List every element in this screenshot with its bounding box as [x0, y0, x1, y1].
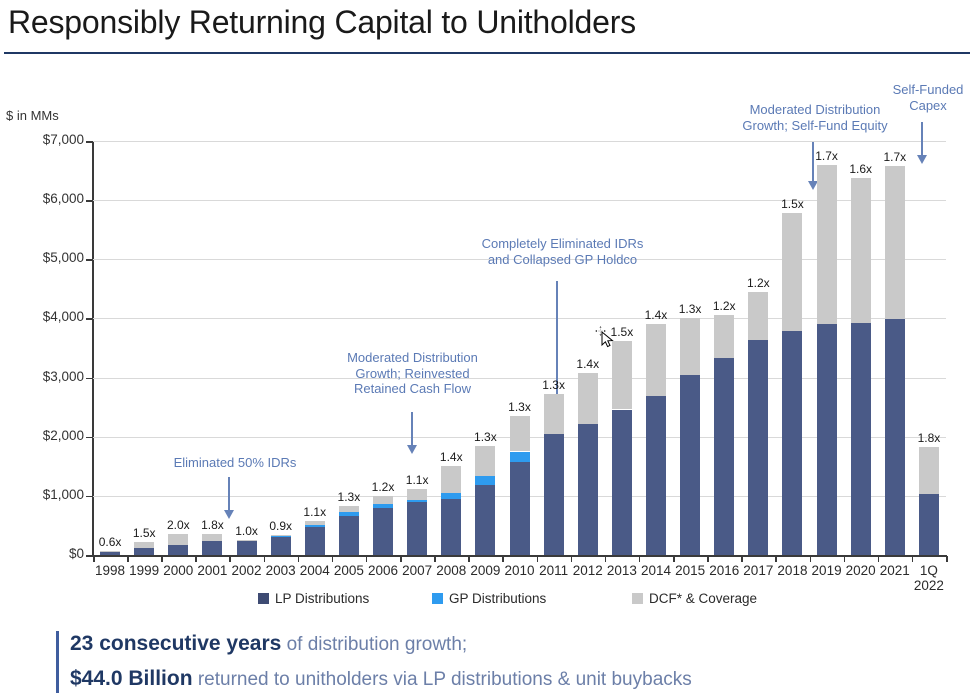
y-axis-tick-label: $4,000: [12, 309, 84, 324]
bar-segment-lp[interactable]: [305, 527, 325, 555]
x-axis-tick: [161, 556, 163, 562]
legend-item[interactable]: LP Distributions: [258, 591, 369, 606]
y-axis-tick: [86, 259, 93, 261]
bar-segment-dcf[interactable]: [885, 166, 905, 319]
bar-segment-lp[interactable]: [202, 541, 222, 555]
y-axis-tick-label: $3,000: [12, 369, 84, 384]
x-axis-tick: [878, 556, 880, 562]
footer-line-2: $44.0 Billion returned to unitholders vi…: [70, 662, 956, 697]
bar-segment-lp[interactable]: [441, 499, 461, 555]
slide-root: Responsibly Returning Capital to Unithol…: [0, 0, 979, 698]
bar-segment-lp[interactable]: [748, 340, 768, 555]
y-axis-tick-label: $7,000: [12, 132, 84, 147]
footer-strong-1: 23 consecutive years: [70, 632, 281, 655]
x-axis-tick: [366, 556, 368, 562]
annotation-arrow-icon: [916, 122, 928, 164]
bar-coverage-label: 1.1x: [293, 505, 337, 519]
bar-coverage-label: 1.3x: [498, 400, 542, 414]
bar-segment-dcf[interactable]: [339, 506, 359, 513]
bar-segment-dcf[interactable]: [612, 341, 632, 410]
bar-segment-gp[interactable]: [305, 525, 325, 527]
bar-coverage-label: 1.5x: [600, 325, 644, 339]
legend-swatch: [258, 593, 269, 604]
footer-rest-2: returned to unitholders via LP distribut…: [193, 669, 692, 690]
annotation-arrow-icon: [223, 477, 235, 519]
y-axis-tick-label: $2,000: [12, 428, 84, 443]
y-axis-tick: [86, 496, 93, 498]
x-axis-tick-label: 1Q2022: [907, 563, 951, 593]
x-axis-tick: [400, 556, 402, 562]
bar-segment-dcf[interactable]: [168, 534, 188, 544]
bar-segment-lp[interactable]: [168, 545, 188, 555]
bar-segment-lp[interactable]: [714, 358, 734, 555]
x-axis-tick: [605, 556, 607, 562]
bar-segment-lp[interactable]: [578, 424, 598, 555]
bar-segment-lp[interactable]: [851, 323, 871, 555]
bar-segment-lp[interactable]: [339, 516, 359, 555]
y-axis-tick: [86, 378, 93, 380]
bar-segment-lp[interactable]: [885, 319, 905, 555]
footer-line-1: 23 consecutive years of distribution gro…: [70, 627, 956, 662]
x-axis-tick: [946, 556, 948, 562]
footer-callout: 23 consecutive years of distribution gro…: [56, 627, 956, 697]
bar-coverage-label: 1.7x: [805, 149, 849, 163]
y-axis-tick-label: $6,000: [12, 191, 84, 206]
x-axis-tick: [332, 556, 334, 562]
x-axis-tick: [298, 556, 300, 562]
bar-coverage-label: 0.9x: [259, 519, 303, 533]
y-axis-tick: [86, 141, 93, 143]
bar-segment-gp[interactable]: [510, 452, 530, 463]
x-axis-line: [92, 555, 947, 557]
legend-item[interactable]: GP Distributions: [432, 591, 546, 606]
bar-segment-dcf[interactable]: [544, 394, 564, 434]
annotation-text: Self-Funded Capex: [878, 82, 978, 113]
legend-swatch: [632, 593, 643, 604]
bar-coverage-label: 1.3x: [463, 430, 507, 444]
bar-segment-dcf[interactable]: [134, 542, 154, 548]
x-axis-tick: [912, 556, 914, 562]
bar-segment-gp[interactable]: [407, 500, 427, 502]
bar-coverage-label: 1.3x: [532, 378, 576, 392]
bar-segment-dcf[interactable]: [305, 521, 325, 525]
y-axis-tick: [86, 437, 93, 439]
footer-strong-2: $44.0 Billion: [70, 667, 193, 690]
bar-segment-lp[interactable]: [271, 537, 291, 555]
legend-label: DCF* & Coverage: [649, 591, 757, 606]
y-axis-tick: [86, 318, 93, 320]
x-axis-tick: [639, 556, 641, 562]
bar-coverage-label: 1.8x: [907, 431, 951, 445]
legend-swatch: [432, 593, 443, 604]
legend-label: GP Distributions: [449, 591, 546, 606]
y-axis-tick: [86, 200, 93, 202]
bar-segment-dcf[interactable]: [680, 318, 700, 375]
bar-segment-gp[interactable]: [441, 493, 461, 498]
legend-item[interactable]: DCF* & Coverage: [632, 591, 757, 606]
annotation-text: Eliminated 50% IDRs: [155, 455, 315, 471]
bar-segment-dcf[interactable]: [441, 466, 461, 494]
y-axis-tick: [86, 555, 93, 557]
x-axis-tick: [844, 556, 846, 562]
bar-segment-dcf[interactable]: [100, 551, 120, 552]
x-axis-tick: [673, 556, 675, 562]
x-axis-tick: [127, 556, 129, 562]
legend-label: LP Distributions: [275, 591, 369, 606]
bar-segment-dcf[interactable]: [851, 178, 871, 323]
bar-segment-lp[interactable]: [612, 410, 632, 555]
y-axis-tick-label: $1,000: [12, 487, 84, 502]
x-axis-tick: [434, 556, 436, 562]
x-axis-tick: [571, 556, 573, 562]
y-axis-tick-label: $0: [12, 546, 84, 561]
x-axis-tick: [195, 556, 197, 562]
bar-segment-dcf[interactable]: [237, 540, 257, 541]
x-axis-tick: [741, 556, 743, 562]
chart-legend: LP DistributionsGP DistributionsDCF* & C…: [0, 591, 979, 611]
annotation-arrow-icon: [406, 412, 418, 454]
bar-segment-dcf[interactable]: [646, 324, 666, 396]
bar-segment-lp[interactable]: [646, 396, 666, 555]
footer-accent-bar: [56, 631, 59, 693]
bar-segment-lp[interactable]: [680, 375, 700, 555]
bar-segment-lp[interactable]: [782, 331, 802, 555]
bar-segment-dcf[interactable]: [817, 165, 837, 325]
x-axis-tick: [775, 556, 777, 562]
footer-rest-1: of distribution growth;: [281, 634, 467, 655]
bar-coverage-label: 1.7x: [873, 150, 917, 164]
bar-segment-dcf[interactable]: [202, 534, 222, 541]
bar-segment-lp[interactable]: [134, 548, 154, 555]
x-axis-tick: [468, 556, 470, 562]
bar-coverage-label: 1.1x: [395, 473, 439, 487]
bar-segment-lp[interactable]: [100, 552, 120, 555]
x-axis-tick: [264, 556, 266, 562]
bar-segment-dcf[interactable]: [782, 213, 802, 331]
x-axis-tick: [229, 556, 231, 562]
bar-segment-dcf[interactable]: [578, 373, 598, 423]
bar-segment-gp[interactable]: [271, 535, 291, 536]
x-axis-tick: [810, 556, 812, 562]
bar-segment-dcf[interactable]: [475, 446, 495, 477]
bar-coverage-label: 1.2x: [736, 276, 780, 290]
bar-segment-lp[interactable]: [407, 502, 427, 555]
bar-coverage-label: 1.4x: [566, 357, 610, 371]
bar-segment-dcf[interactable]: [748, 292, 768, 340]
page-title: Responsibly Returning Capital to Unithol…: [8, 4, 636, 41]
x-axis-tick: [537, 556, 539, 562]
title-divider: [4, 52, 970, 54]
bar-segment-gp[interactable]: [475, 476, 495, 485]
bar-segment-lp[interactable]: [475, 485, 495, 555]
bar-segment-dcf[interactable]: [714, 315, 734, 358]
bar-segment-lp[interactable]: [919, 494, 939, 555]
bar-segment-dcf[interactable]: [407, 489, 427, 500]
bar-segment-dcf[interactable]: [919, 447, 939, 494]
y-axis-tick-label: $5,000: [12, 250, 84, 265]
bar-segment-gp[interactable]: [373, 504, 393, 508]
bar-coverage-label: 1.5x: [770, 197, 814, 211]
annotation-text: Moderated Distribution Growth; Self-Fund…: [730, 102, 900, 133]
x-axis-tick: [93, 556, 95, 562]
bar-segment-lp[interactable]: [817, 324, 837, 555]
bar-segment-lp[interactable]: [373, 508, 393, 555]
bar-segment-dcf[interactable]: [510, 416, 530, 451]
annotation-text: Moderated Distribution Growth; Reinveste…: [330, 350, 495, 397]
bar-coverage-label: 1.2x: [702, 299, 746, 313]
annotation-text: Completely Eliminated IDRs and Collapsed…: [465, 236, 660, 267]
bar-segment-gp[interactable]: [339, 512, 359, 516]
bar-coverage-label: 1.4x: [429, 450, 473, 464]
bar-segment-lp[interactable]: [510, 462, 530, 555]
bar-segment-lp[interactable]: [544, 434, 564, 555]
bar-segment-dcf[interactable]: [271, 535, 291, 536]
bar-segment-lp[interactable]: [237, 541, 257, 555]
x-axis-tick: [707, 556, 709, 562]
x-axis-tick: [502, 556, 504, 562]
bar-segment-dcf[interactable]: [373, 496, 393, 504]
